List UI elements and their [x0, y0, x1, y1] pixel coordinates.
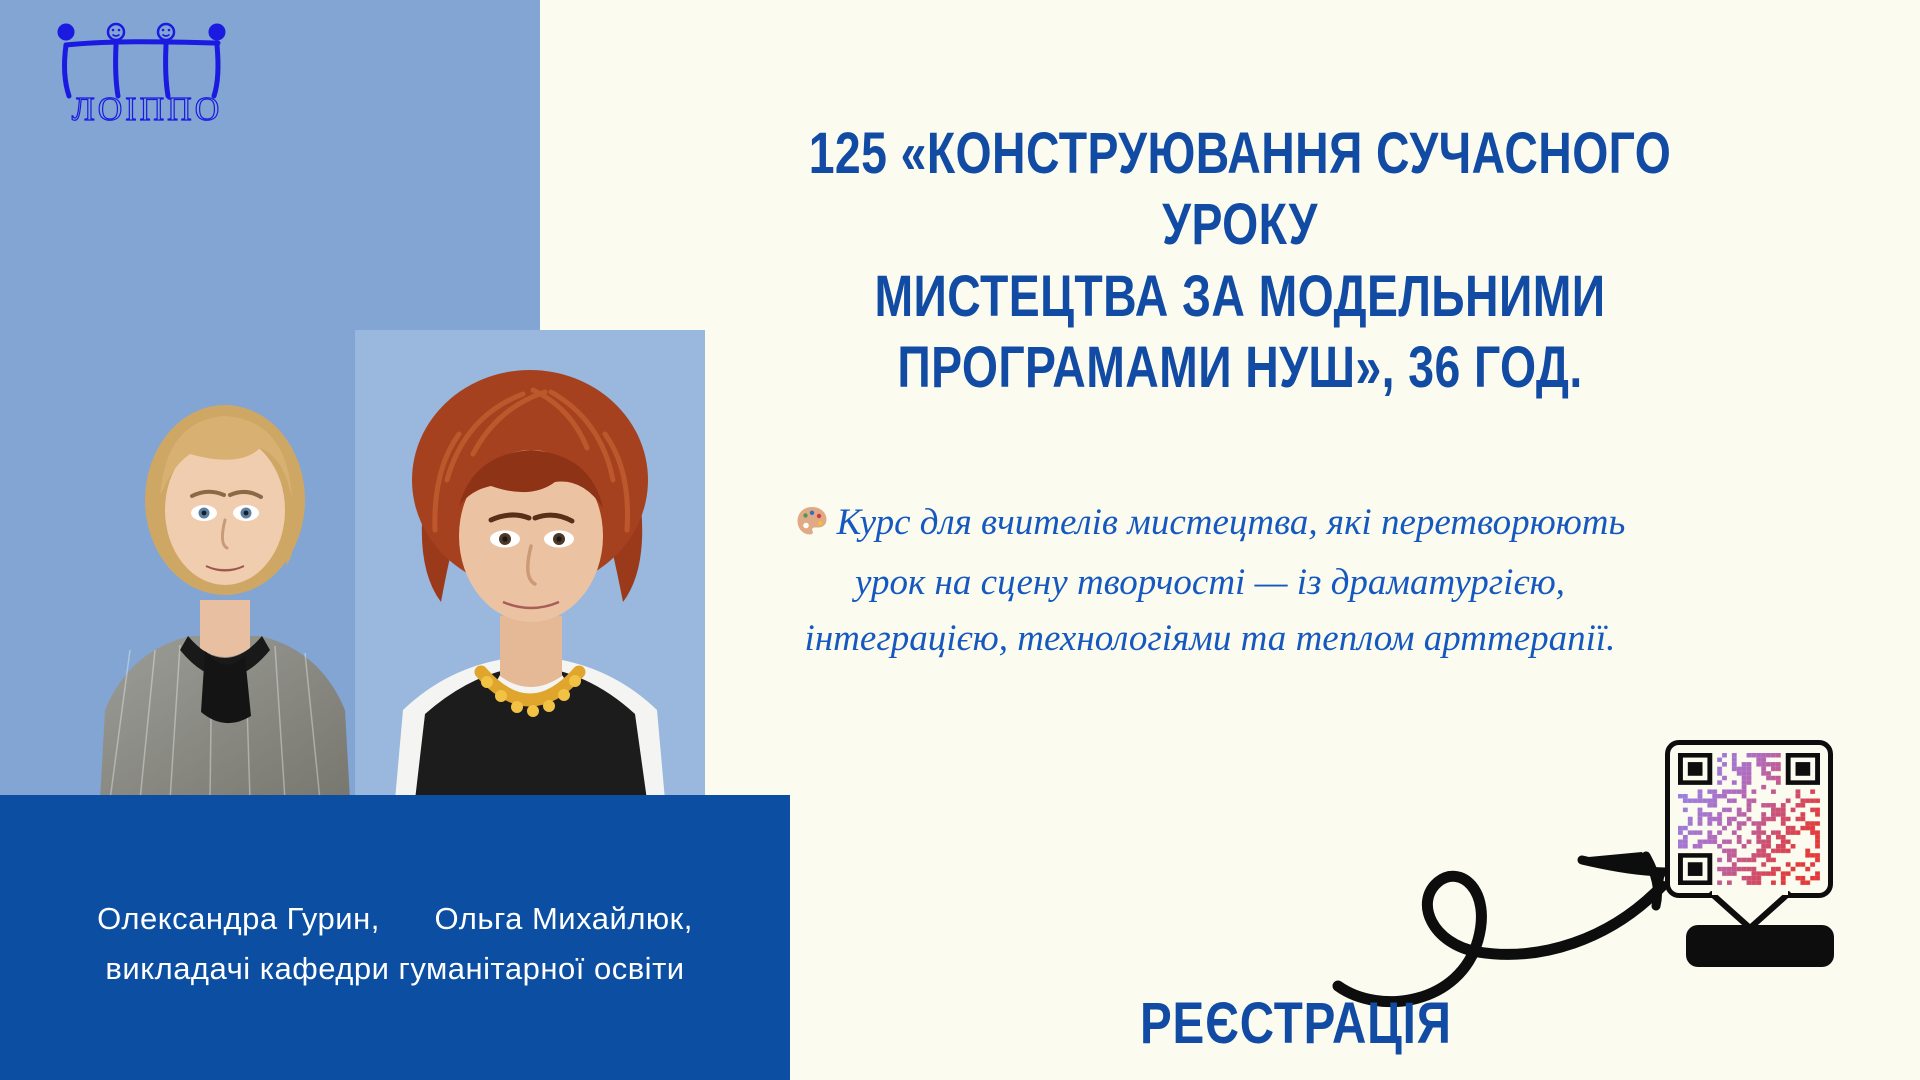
course-description: Курс для вчителів мистецтва, які перетво…	[780, 495, 1640, 668]
presenters-name-banner: Олександра Гурин, Ольга Михайлюк, виклад…	[0, 795, 790, 1080]
loippo-logo: ЛОІППО	[52, 12, 242, 122]
registration-label: РЕЄСТРАЦІЯ	[1140, 990, 1452, 1057]
poster-canvas: ЛОІППО	[0, 0, 1920, 1080]
qr-canvas	[1678, 753, 1820, 885]
presenter-role: викладачі кафедри гуманітарної освіти	[105, 951, 684, 987]
description-line-4: теплом арттерапії.	[1296, 618, 1616, 659]
presenter-photo-oleksandra-huryn	[70, 350, 380, 800]
logo-wordmark: ЛОІППО	[72, 91, 223, 124]
presenter-photo-olha-mykhailiuk	[355, 330, 705, 800]
itti-figures-logo: ЛОІППО	[52, 12, 242, 124]
description-line-1: Курс для вчителів мистецтва, які	[837, 502, 1372, 543]
title-line-3: ПРОГРАМАМИ НУШ», 36 ГОД.	[760, 332, 1720, 403]
palette-icon	[795, 499, 829, 555]
page-title: 125 «КОНСТРУЮВАННЯ СУЧАСНОГО УРОКУ МИСТЕ…	[760, 118, 1720, 403]
registration-qr-code[interactable]	[1665, 740, 1833, 898]
title-line-1: 125 «КОНСТРУЮВАННЯ СУЧАСНОГО УРОКУ	[760, 118, 1720, 261]
title-line-2: МИСТЕЦТВА ЗА МОДЕЛЬНИМИ	[760, 261, 1720, 332]
presenter-names: Олександра Гурин, Ольга Михайлюк,	[97, 901, 693, 937]
qr-label-bar	[1686, 925, 1834, 967]
presenters-photo-group	[0, 330, 700, 800]
registration-qr-block[interactable]	[1660, 740, 1865, 980]
